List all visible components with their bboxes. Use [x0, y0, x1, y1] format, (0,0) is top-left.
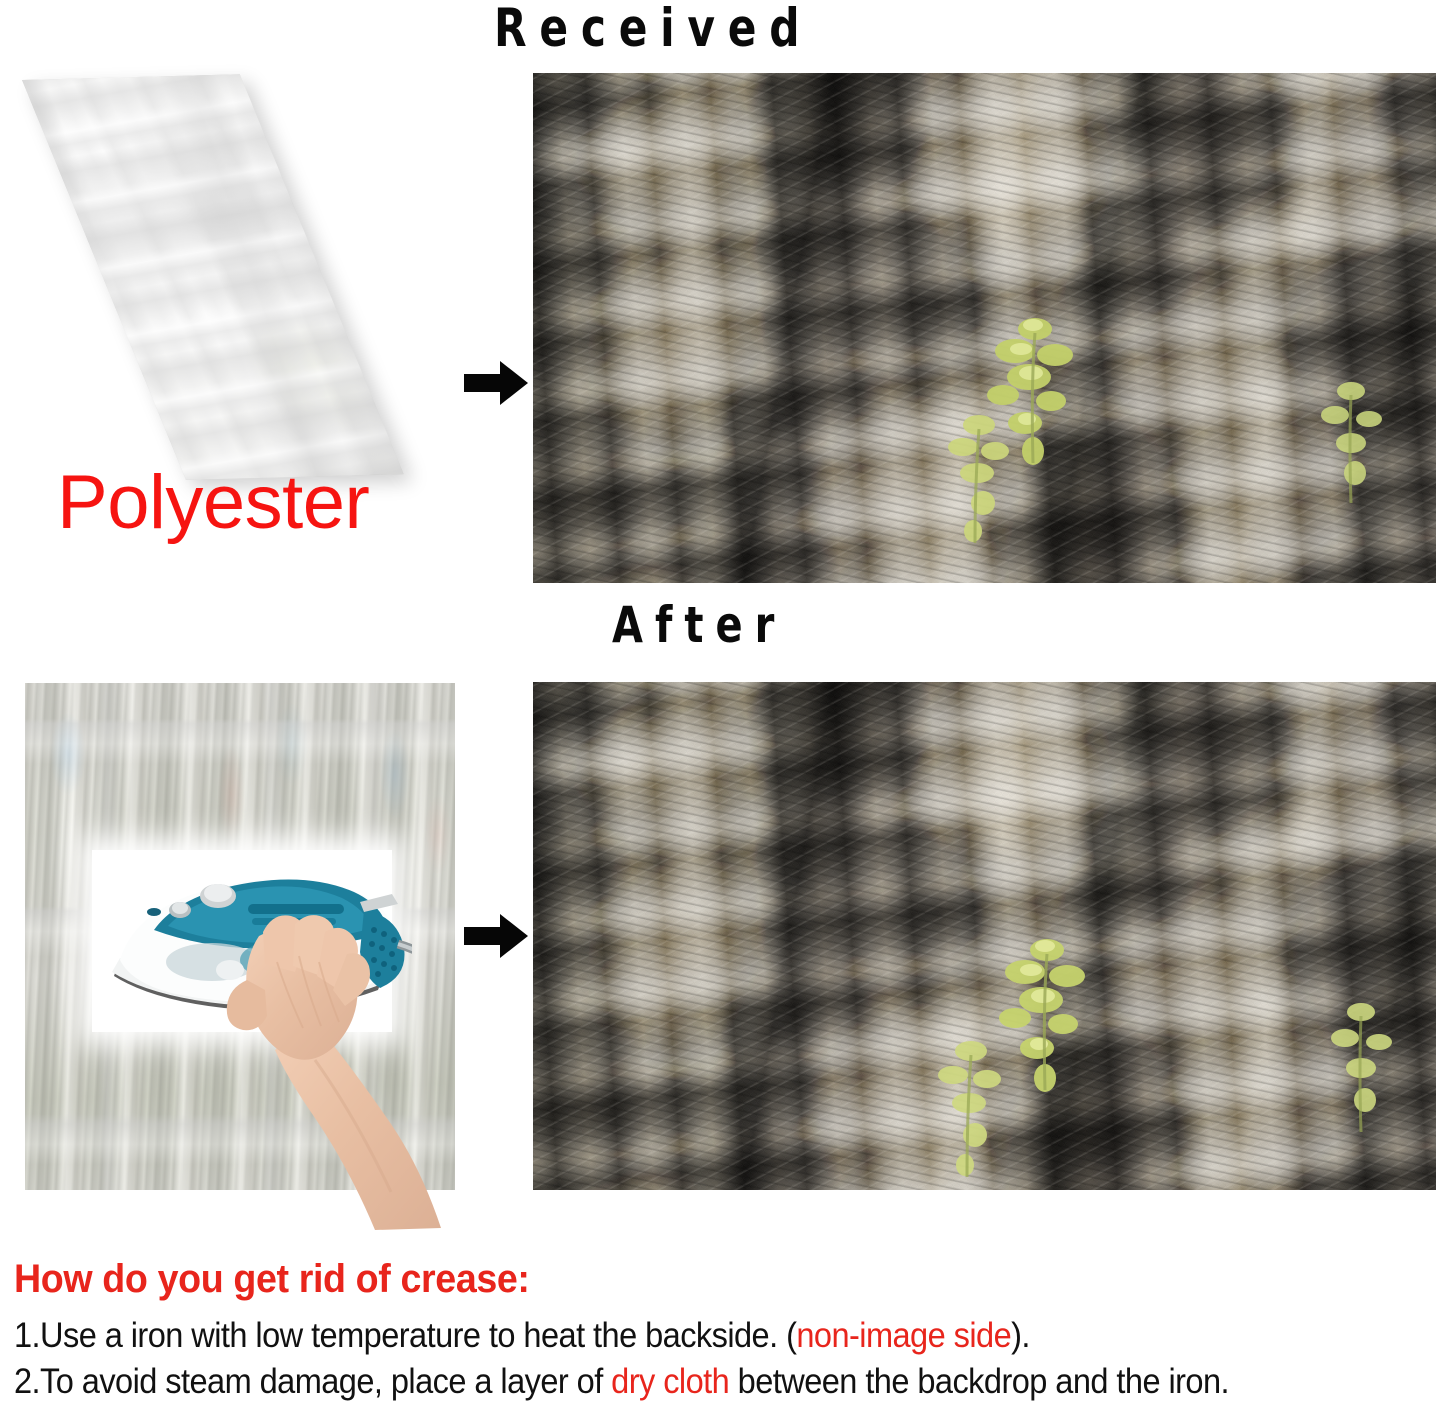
- right-arrow-icon: [464, 361, 528, 405]
- care-step-1-suffix: ).: [1011, 1316, 1030, 1355]
- folded-fabric-sample: [22, 74, 404, 480]
- polyester-material-label: Polyester: [57, 465, 369, 541]
- care-instructions-title: How do you get rid of crease:: [14, 1258, 1341, 1300]
- after-heading: After: [612, 600, 786, 650]
- received-heading: Received: [494, 2, 812, 55]
- care-step-1-prefix: 1.Use a iron with low temperature to hea…: [14, 1316, 796, 1355]
- received-backdrop-photo: [533, 73, 1436, 583]
- after-backdrop-photo: [533, 682, 1436, 1190]
- rock-crack-layer: [533, 73, 1436, 583]
- fabric-faded-overlay: [22, 74, 404, 480]
- care-step-2-suffix: between the backdrop and the iron.: [729, 1362, 1229, 1401]
- care-step-1-highlight: non-image side: [796, 1316, 1011, 1355]
- care-step-1: 1.Use a iron with low temperature to hea…: [14, 1313, 1327, 1359]
- rock-crack-layer: [533, 682, 1436, 1190]
- care-instructions-block: How do you get rid of crease: 1.Use a ir…: [14, 1258, 1426, 1404]
- care-step-2-prefix: 2.To avoid steam damage, place a layer o…: [14, 1362, 611, 1401]
- hand-icon: [215, 910, 475, 1230]
- infographic-canvas: Polyester Received: [0, 0, 1436, 1401]
- care-step-2-highlight: dry cloth: [611, 1362, 729, 1401]
- right-arrow-icon: [464, 914, 528, 958]
- care-step-2: 2.To avoid steam damage, place a layer o…: [14, 1359, 1327, 1404]
